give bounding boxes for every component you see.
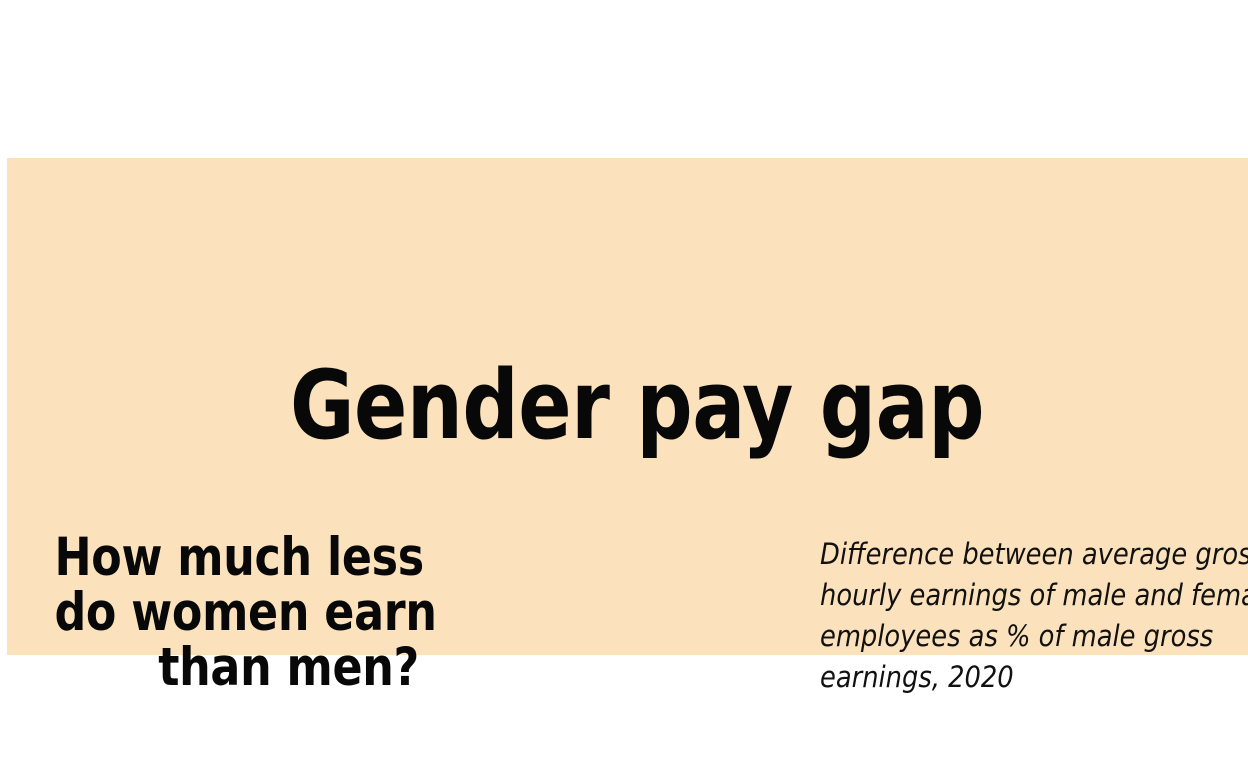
- banner-panel: Gender pay gap How much less do women ea…: [7, 158, 1248, 655]
- description-line-2: hourly earnings of male and female: [820, 575, 1218, 616]
- question-heading: How much less do women earn than men?: [27, 530, 419, 695]
- description-line-1: Difference between average gross: [820, 534, 1218, 575]
- question-heading-line-1: How much less: [54, 530, 419, 585]
- infographic-page: Gender pay gap How much less do women ea…: [0, 0, 1248, 768]
- question-heading-line-3: than men?: [54, 640, 419, 695]
- description-line-4: earnings, 2020: [820, 657, 1218, 698]
- description-text: Difference between average gross hourly …: [820, 534, 1230, 698]
- question-heading-line-2: do women earn: [54, 585, 419, 640]
- page-title: Gender pay gap: [57, 359, 1216, 454]
- description-line-3: employees as % of male gross: [820, 616, 1218, 657]
